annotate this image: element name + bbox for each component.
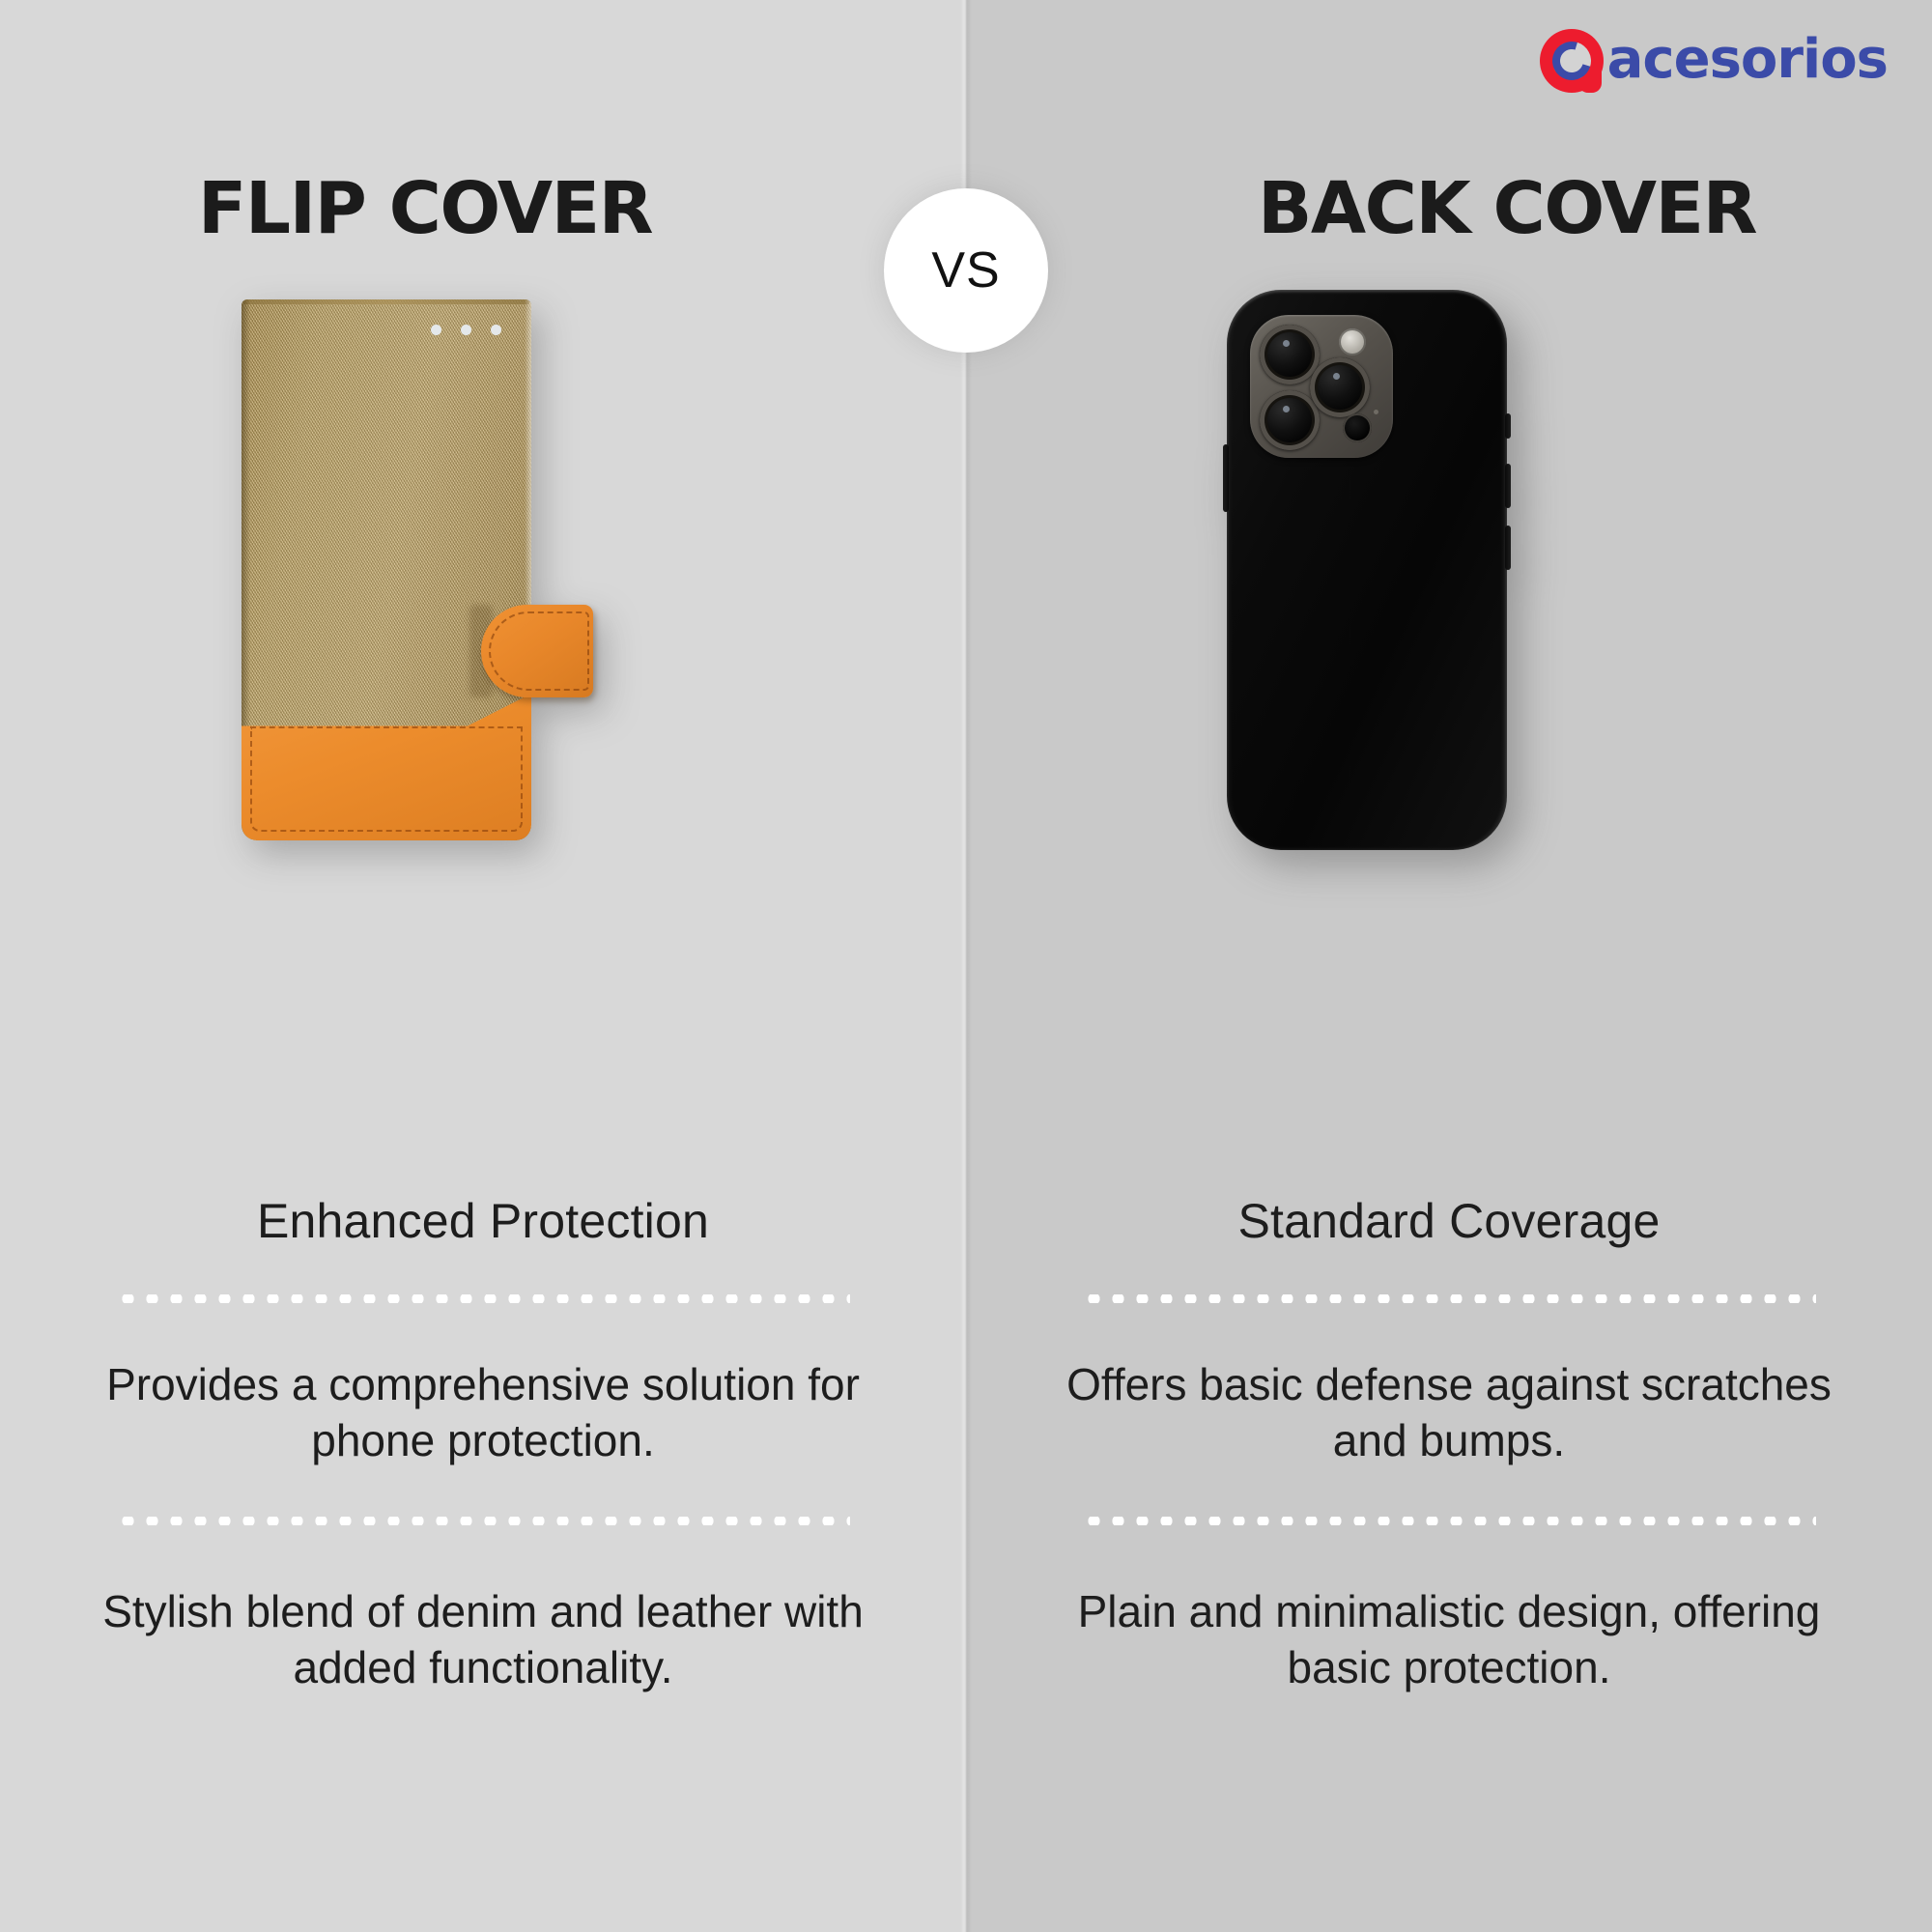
brand-logo[interactable]: acesorios <box>1540 27 1888 93</box>
back-cover-volume-down-cutout <box>1505 526 1511 570</box>
flip-cover-magnetic-clasp <box>481 605 593 697</box>
left-feature-point-2: Stylish blend of denim and leather with … <box>97 1584 869 1696</box>
brand-name: acesorios <box>1607 33 1888 87</box>
camera-lens-ultrawide-icon <box>1260 390 1320 450</box>
left-product-stage <box>0 290 966 1111</box>
lidar-sensor-icon <box>1343 413 1372 442</box>
flip-cover-camera-dots-icon <box>431 325 501 335</box>
right-divider-bottom <box>1082 1517 1816 1525</box>
right-divider-top <box>1082 1294 1816 1303</box>
flip-cover-denim-body <box>241 299 531 840</box>
left-feature-point-1: Provides a comprehensive solution for ph… <box>97 1357 869 1469</box>
right-feature-point-1: Offers basic defense against scratches a… <box>1063 1357 1835 1469</box>
back-cover-volume-up-cutout <box>1505 464 1511 508</box>
camera-flash-icon <box>1339 328 1366 355</box>
back-cover-power-button-cutout <box>1223 444 1229 512</box>
microphone-dot-icon <box>1374 410 1378 414</box>
left-divider-top <box>116 1294 850 1303</box>
camera-lens-telephoto-icon <box>1310 357 1370 417</box>
flip-cover-product <box>241 299 531 840</box>
right-feature-point-2: Plain and minimalistic design, offering … <box>1063 1584 1835 1696</box>
back-cover-camera-island <box>1250 315 1393 458</box>
logo-a-mark-icon <box>1540 27 1609 93</box>
right-product-stage <box>966 290 1932 1111</box>
left-feature-title: Enhanced Protection <box>0 1193 966 1249</box>
flip-cover-top-edge <box>243 299 529 304</box>
right-column-heading: BACK COVER <box>966 164 1932 253</box>
flip-cover-leather-bottom <box>241 694 531 840</box>
left-column-heading: FLIP COVER <box>0 164 966 253</box>
right-feature-title: Standard Coverage <box>966 1193 1932 1249</box>
back-cover-body <box>1227 290 1507 850</box>
back-cover-product <box>1227 290 1507 850</box>
back-cover-mute-button-cutout <box>1505 413 1511 439</box>
left-divider-bottom <box>116 1517 850 1525</box>
vs-badge: VS <box>884 188 1048 353</box>
camera-lens-wide-icon <box>1260 325 1320 384</box>
